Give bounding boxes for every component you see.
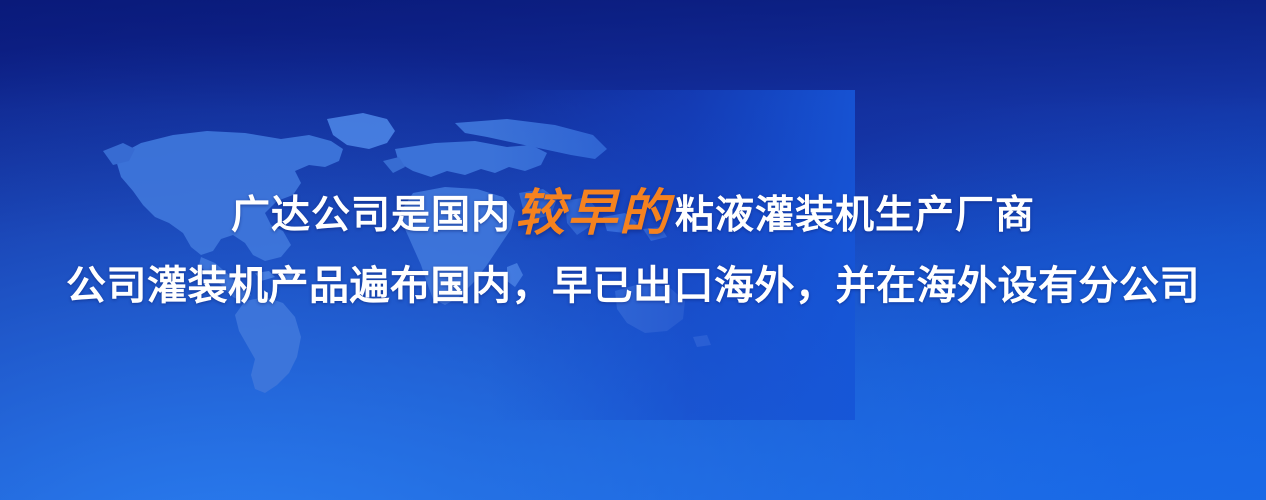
headline: 广达公司是国内 较早的 粘液灌装机生产厂商 <box>0 186 1266 242</box>
headline-accent: 较早的 <box>511 188 675 238</box>
subheadline: 公司灌装机产品遍布国内，早已出口海外，并在海外设有分公司 <box>0 266 1266 306</box>
headline-part-2: 粘液灌装机生产厂商 <box>675 196 1035 235</box>
headline-part-1: 广达公司是国内 <box>231 196 511 235</box>
hero-banner: 广达公司是国内 较早的 粘液灌装机生产厂商 公司灌装机产品遍布国内，早已出口海外… <box>0 0 1266 500</box>
banner-copy: 广达公司是国内 较早的 粘液灌装机生产厂商 公司灌装机产品遍布国内，早已出口海外… <box>0 186 1266 306</box>
